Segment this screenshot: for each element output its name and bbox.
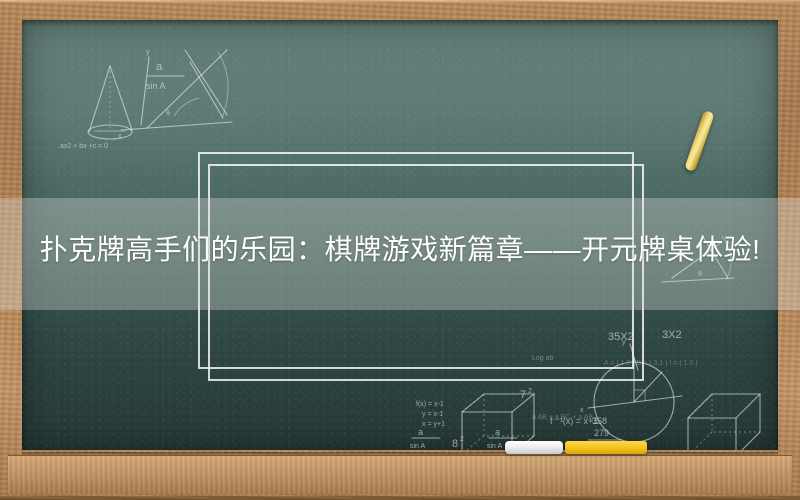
chalk-ab-bc-ac: a AB + a BC + a AB xyxy=(532,414,593,421)
chalk-text-sin-a: sin A xyxy=(146,81,166,91)
frame-top-highlight xyxy=(0,0,800,3)
fraction-a-sin-a-top: a sin A xyxy=(146,61,184,91)
axes-angle-drawing: y x θ xyxy=(118,49,232,140)
chalk-3x2: 3X2 xyxy=(662,329,682,341)
chalk-fx-line1: f(x) = x-1 xyxy=(416,401,444,408)
tray-chalk-white-icon xyxy=(505,441,563,454)
chalk-eight: 8 xyxy=(452,438,458,450)
chalk-inverse-fn: f ⁻¹(x) = x+1 xyxy=(550,416,598,426)
chalk-seven-exp: 2 xyxy=(528,388,532,395)
function-lines: f(x) = x-1 y = x-1 x = y+1 xyxy=(416,401,445,428)
chalk-axis-y-label: y xyxy=(146,49,150,56)
chalk-sin-a-3: sin A xyxy=(487,443,503,450)
chalk-a-3: a xyxy=(495,427,500,437)
chalk-stick-yellow-icon xyxy=(684,110,715,172)
tray-chalk-yellow-icon xyxy=(565,441,647,454)
frame-bottom-shadow xyxy=(0,496,800,500)
chalk-text-a: a xyxy=(156,61,163,73)
chalk-axis-x-label: x xyxy=(118,133,122,140)
chalk-sum-term2: 279 xyxy=(594,428,609,438)
chalk-angle-label-right: θ xyxy=(698,271,702,278)
chalk-eight-exp: 2 xyxy=(460,436,464,443)
chalk-a-2: a xyxy=(418,427,423,437)
chalk-sum-term1: 358 xyxy=(592,416,607,426)
chalk-seven: 7 xyxy=(520,389,526,401)
chalk-angle-label: θ xyxy=(166,110,170,117)
chalk-fx-line3: x = y+1 xyxy=(422,421,445,428)
chalk-sin-a-2: sin A xyxy=(410,443,426,450)
chalk-axis-x-right: x xyxy=(580,407,584,414)
chalk-text-quadratic: ax2 + bx +c = 0 xyxy=(60,143,108,150)
chalk-fx-line2: y = x-1 xyxy=(422,411,443,418)
frame-rect-inner xyxy=(208,164,644,381)
page-title: 扑克牌高手们的乐园：棋牌游戏新篇章——开元牌桌体验! xyxy=(0,228,800,272)
chalkboard-banner: a sin A ax2 + bx +c = 0 y x θ xyxy=(0,0,800,500)
chalk-ledge xyxy=(8,455,792,494)
cube-drawing-right xyxy=(688,394,760,450)
fraction-a-sin-a-bottom-left: a sin A xyxy=(410,427,440,450)
cone-drawing xyxy=(88,66,132,139)
